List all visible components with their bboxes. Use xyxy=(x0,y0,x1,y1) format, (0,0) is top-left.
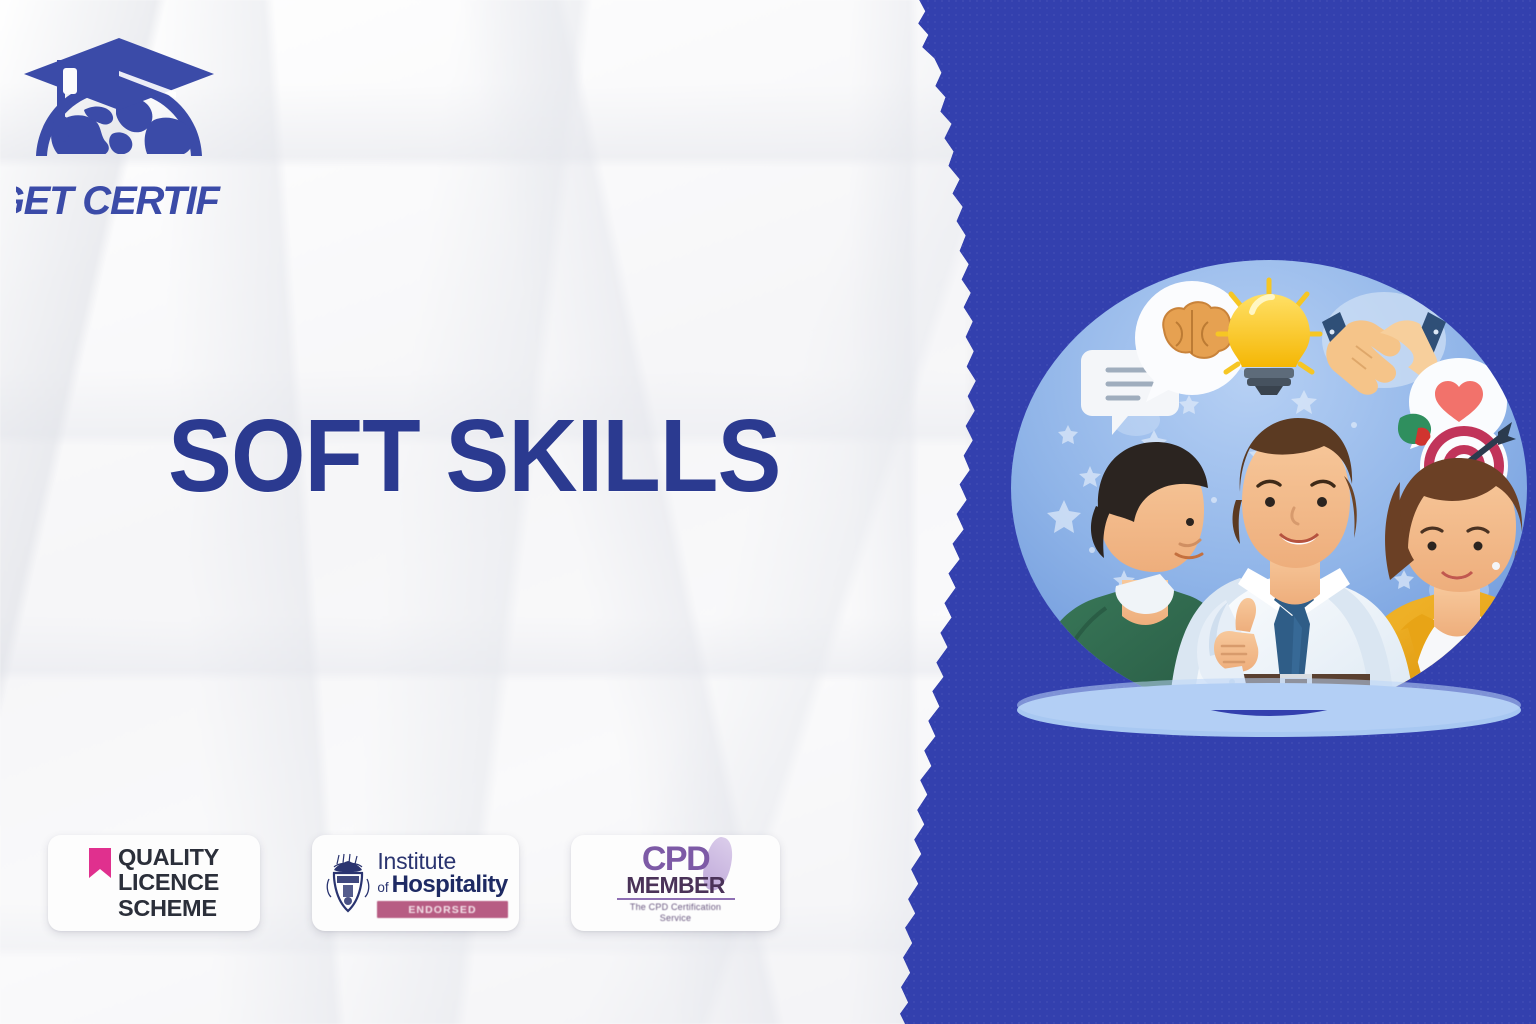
bookmark-icon xyxy=(89,848,111,878)
ioh-line-hospitality: Hospitality xyxy=(392,872,508,897)
cpd-member-text: MEMBER xyxy=(626,873,725,897)
cpd-main-text: CPD xyxy=(642,843,709,875)
heraldic-crest-icon xyxy=(323,851,373,917)
accreditation-badges: QUALITY LICENCE SCHEME xyxy=(48,835,780,931)
qls-line-1: QUALITY xyxy=(118,845,219,871)
badge-cpd-member[interactable]: CPD MEMBER The CPD Certification Service xyxy=(571,835,780,931)
svg-text:GET CERTIFY: GET CERTIFY xyxy=(16,179,222,223)
qls-line-2: LICENCE xyxy=(118,870,219,896)
ioh-endorsed-ribbon: ENDORSED xyxy=(377,901,507,918)
soft-skills-team-illustration xyxy=(1004,250,1534,750)
badge-quality-licence-scheme[interactable]: QUALITY LICENCE SCHEME xyxy=(48,835,260,931)
page-title: SOFT SKILLS xyxy=(168,404,780,507)
badge-institute-of-hospitality[interactable]: Institute of Hospitality ENDORSED xyxy=(312,835,519,931)
cpd-divider xyxy=(617,898,735,900)
ioh-line-institute: Institute xyxy=(377,850,507,872)
qls-line-3: SCHEME xyxy=(118,896,219,922)
banner-stage: GET CERTIFY GET CERTIFY SOFT SKILLS QUAL… xyxy=(0,0,1536,1024)
cpd-footnote-2: Service xyxy=(660,913,691,924)
get-certify-logo[interactable]: GET CERTIFY GET CERTIFY xyxy=(16,28,222,224)
cpd-footnote-1: The CPD Certification xyxy=(630,902,721,913)
ioh-word-of: of xyxy=(377,880,388,895)
